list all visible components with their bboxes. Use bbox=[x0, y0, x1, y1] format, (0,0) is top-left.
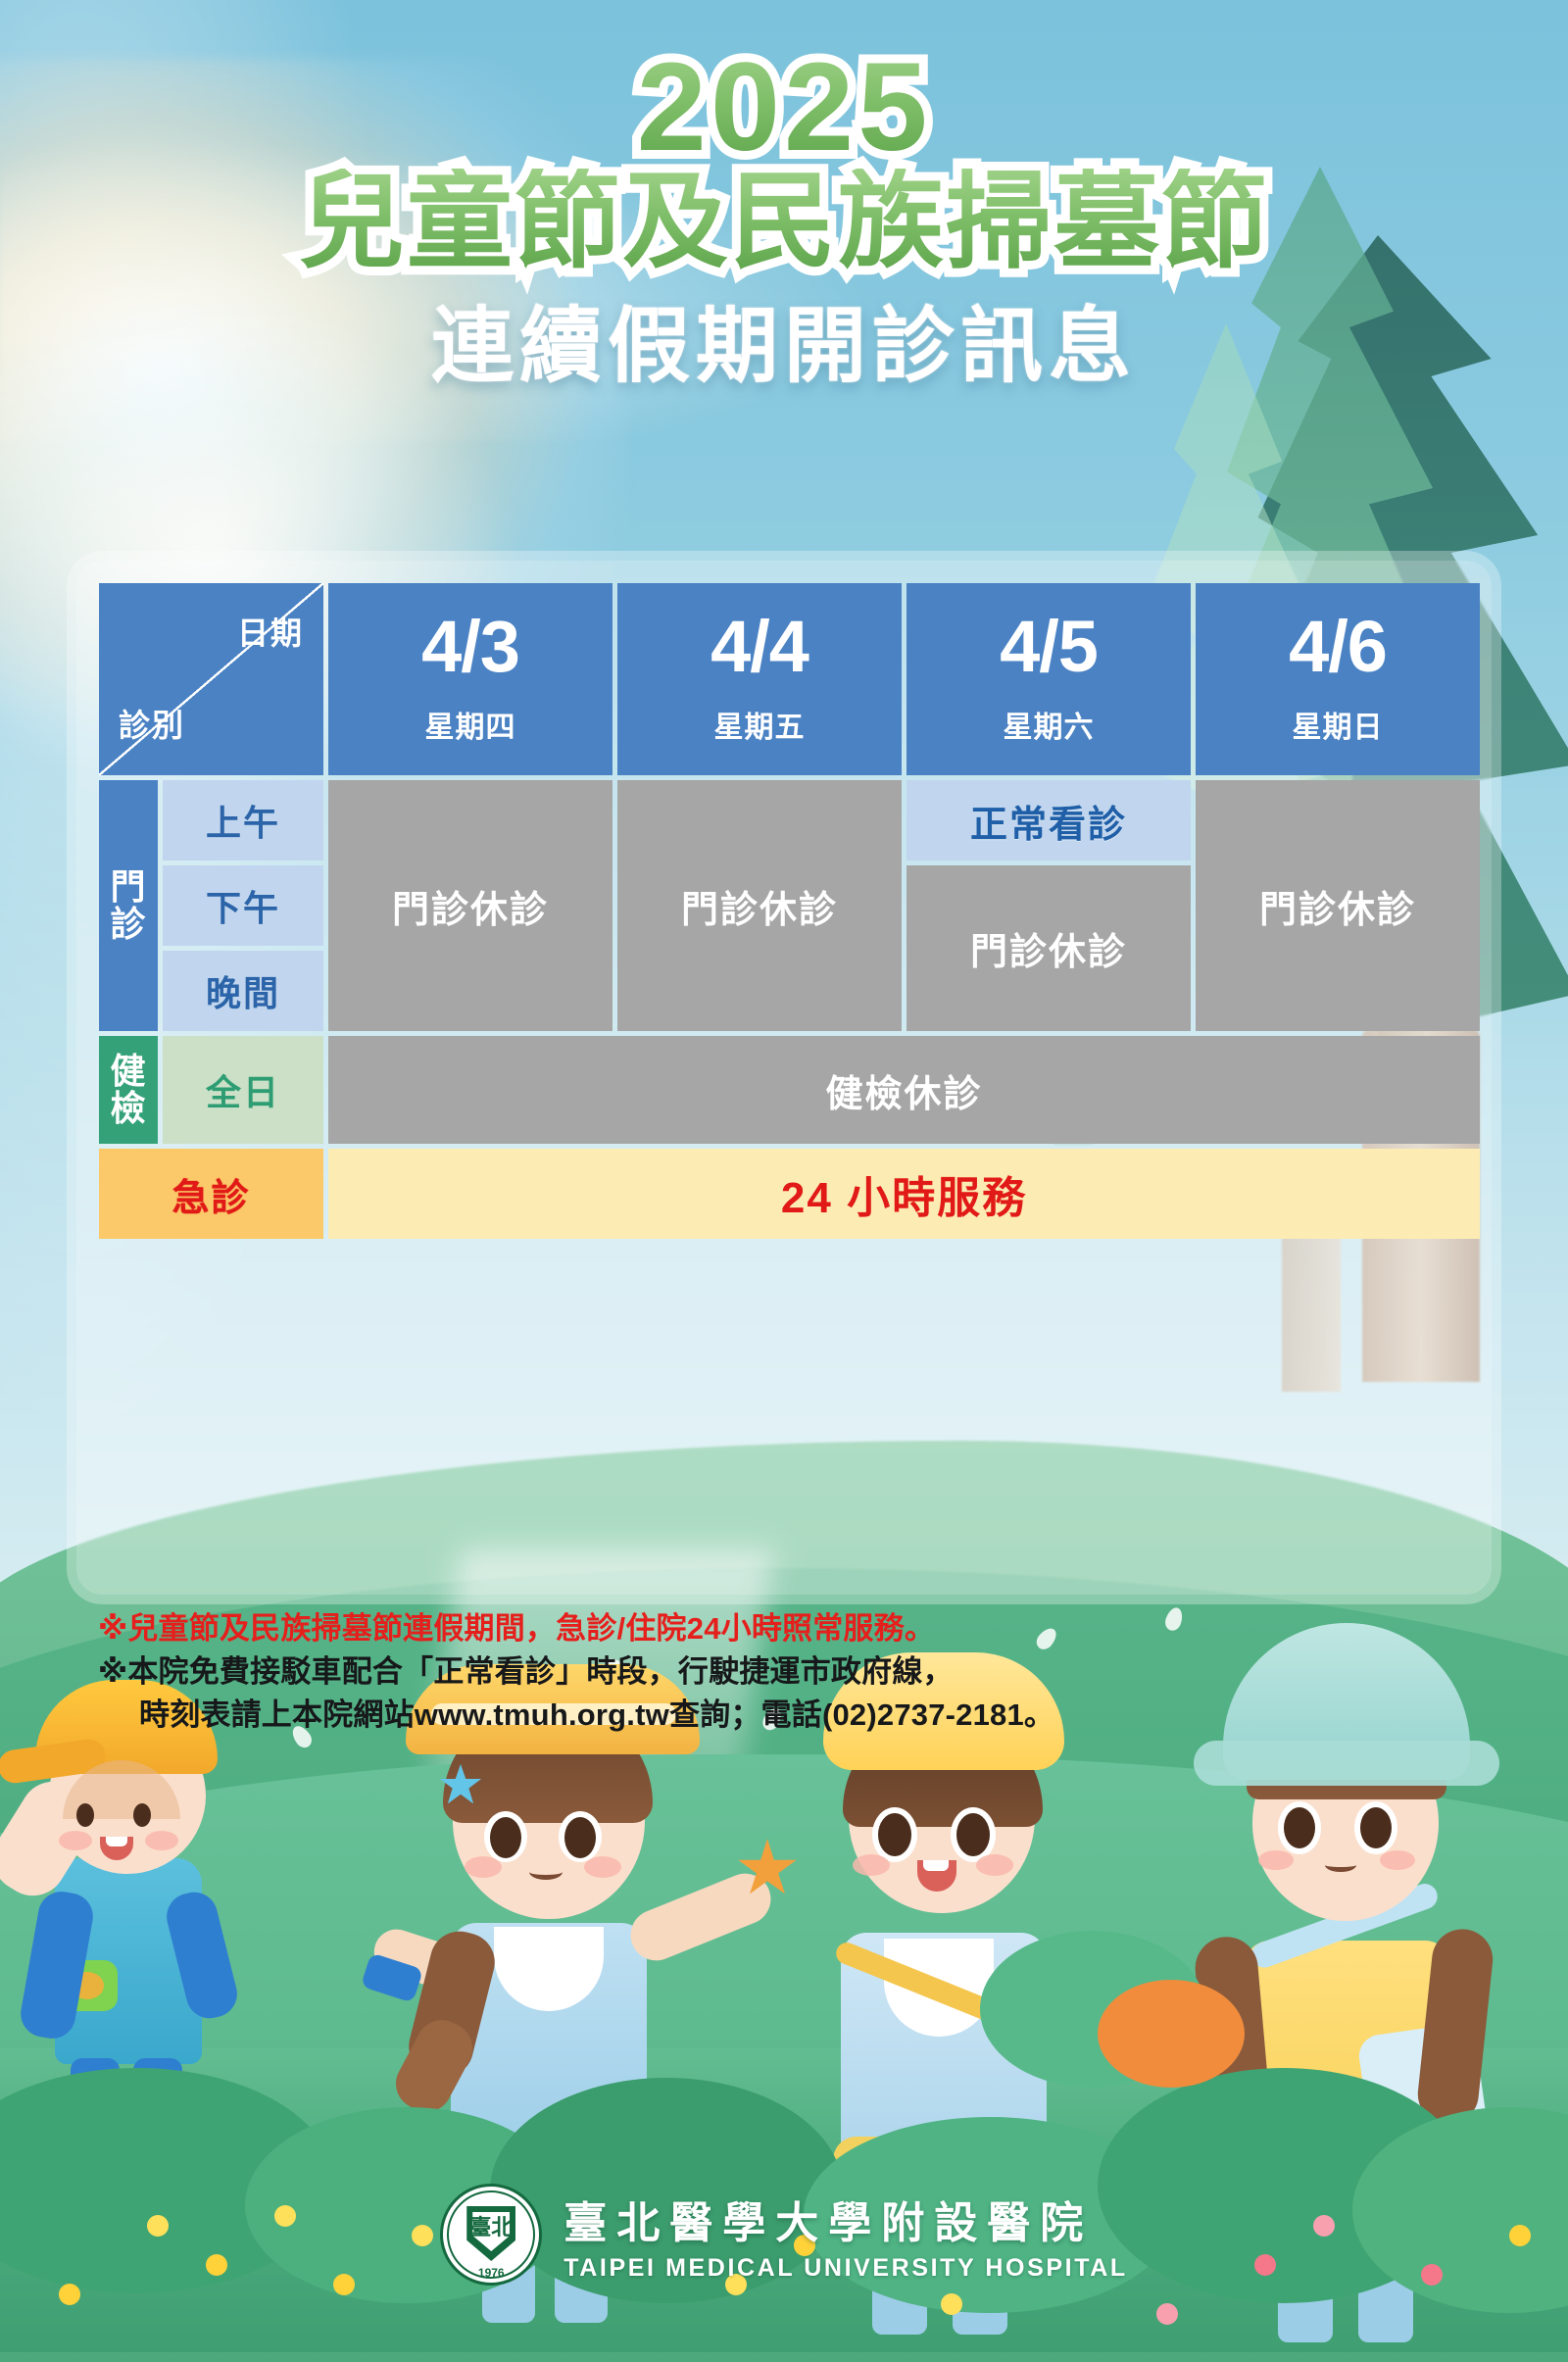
row-label-outpatient: 門診 bbox=[99, 780, 158, 1031]
flower-icon bbox=[59, 2284, 80, 2305]
poster-year: 2025 2025 bbox=[0, 45, 1568, 171]
poster-title-main: 兒童節及民族掃墓節 兒童節及民族掃墓節 bbox=[0, 157, 1568, 283]
header-day-2-weekday: 星期六 bbox=[906, 703, 1191, 746]
header-day-0: 4/3 星期四 bbox=[328, 583, 612, 775]
period-label-morning: 上午 bbox=[163, 780, 323, 861]
hospital-logo-area: 臺北 1976 臺北醫學大學附設醫院 TAIPEI MEDICAL UNIVER… bbox=[0, 2184, 1568, 2286]
header-day-1-weekday: 星期五 bbox=[617, 703, 902, 746]
cell-emergency-value: 24 小時服務 bbox=[328, 1149, 1480, 1239]
row-label-health-check: 健檢 bbox=[99, 1036, 158, 1144]
header-day-2: 4/5 星期六 bbox=[906, 583, 1191, 775]
footnote-line-1: ※兒童節及民族掃墓節連假期間，急診/住院24小時照常服務。 bbox=[98, 1607, 1470, 1650]
crest-year: 1976 bbox=[440, 2266, 542, 2280]
header-day-1-date: 4/4 bbox=[617, 613, 902, 681]
outpatient-morning-row: 門診 上午 門診休診 門診休診 正常看診 門診休診 bbox=[99, 780, 1480, 861]
header-day-1: 4/4 星期五 bbox=[617, 583, 902, 775]
schedule-card: 日期 診別 4/3 星期四 4/4 星期五 4/5 星期六 4/6 星期日 bbox=[76, 561, 1492, 1595]
period-label-evening: 晚間 bbox=[163, 951, 323, 1031]
header-kind-label: 診別 bbox=[119, 701, 185, 746]
footnotes: ※兒童節及民族掃墓節連假期間，急診/住院24小時照常服務。 ※本院免費接駁車配合… bbox=[98, 1607, 1470, 1737]
footnote-line-2: ※本院免費接駁車配合「正常看診」時段，行駛捷運市政府線， bbox=[98, 1650, 1470, 1694]
health-check-row: 健檢 全日 健檢休診 bbox=[99, 1036, 1480, 1144]
poster-year-fill: 2025 bbox=[637, 45, 932, 171]
header-day-2-date: 4/5 bbox=[906, 613, 1191, 681]
cell-0406-outpatient: 門診休診 bbox=[1196, 780, 1480, 1031]
header-day-3-date: 4/6 bbox=[1196, 613, 1480, 681]
footnote-line-3: 時刻表請上本院網站www.tmuh.org.tw查詢；電話(02)2737-21… bbox=[98, 1694, 1470, 1737]
crest-center-text: 臺北 bbox=[469, 2217, 513, 2239]
period-label-afternoon: 下午 bbox=[163, 865, 323, 946]
schedule-table: 日期 診別 4/3 星期四 4/4 星期五 4/5 星期六 4/6 星期日 bbox=[94, 578, 1485, 1244]
table-header-row: 日期 診別 4/3 星期四 4/4 星期五 4/5 星期六 4/6 星期日 bbox=[99, 583, 1480, 775]
row-label-emergency: 急診 bbox=[99, 1149, 323, 1239]
flower-icon bbox=[941, 2293, 962, 2315]
hospital-names: 臺北醫學大學附設醫院 TAIPEI MEDICAL UNIVERSITY HOS… bbox=[563, 2188, 1128, 2283]
emergency-row: 急診 24 小時服務 bbox=[99, 1149, 1480, 1239]
cell-0405-afternoon-evening: 門診休診 bbox=[906, 865, 1191, 1031]
header-date-label: 日期 bbox=[237, 609, 304, 654]
cell-0403-outpatient: 門診休診 bbox=[328, 780, 612, 1031]
header-day-0-date: 4/3 bbox=[328, 613, 612, 681]
hospital-name-en: TAIPEI MEDICAL UNIVERSITY HOSPITAL bbox=[563, 2254, 1128, 2283]
poster-title-sub: 連續假期開診訊息 bbox=[0, 280, 1568, 399]
cell-health-check-value: 健檢休診 bbox=[328, 1036, 1480, 1144]
cell-0405-morning: 正常看診 bbox=[906, 780, 1191, 861]
hospital-name-zh: 臺北醫學大學附設醫院 bbox=[563, 2188, 1093, 2250]
header-corner-cell: 日期 診別 bbox=[99, 583, 323, 775]
flower-icon bbox=[1156, 2303, 1178, 2325]
poster-title-main-fill: 兒童節及民族掃墓節 bbox=[299, 169, 1269, 274]
header-day-3: 4/6 星期日 bbox=[1196, 583, 1480, 775]
period-label-allday: 全日 bbox=[163, 1036, 323, 1144]
bush-shape bbox=[1098, 1980, 1245, 2088]
cell-0404-outpatient: 門診休診 bbox=[617, 780, 902, 1031]
header-day-3-weekday: 星期日 bbox=[1196, 703, 1480, 746]
hospital-crest-icon: 臺北 1976 bbox=[440, 2184, 542, 2286]
header-day-0-weekday: 星期四 bbox=[328, 703, 612, 746]
